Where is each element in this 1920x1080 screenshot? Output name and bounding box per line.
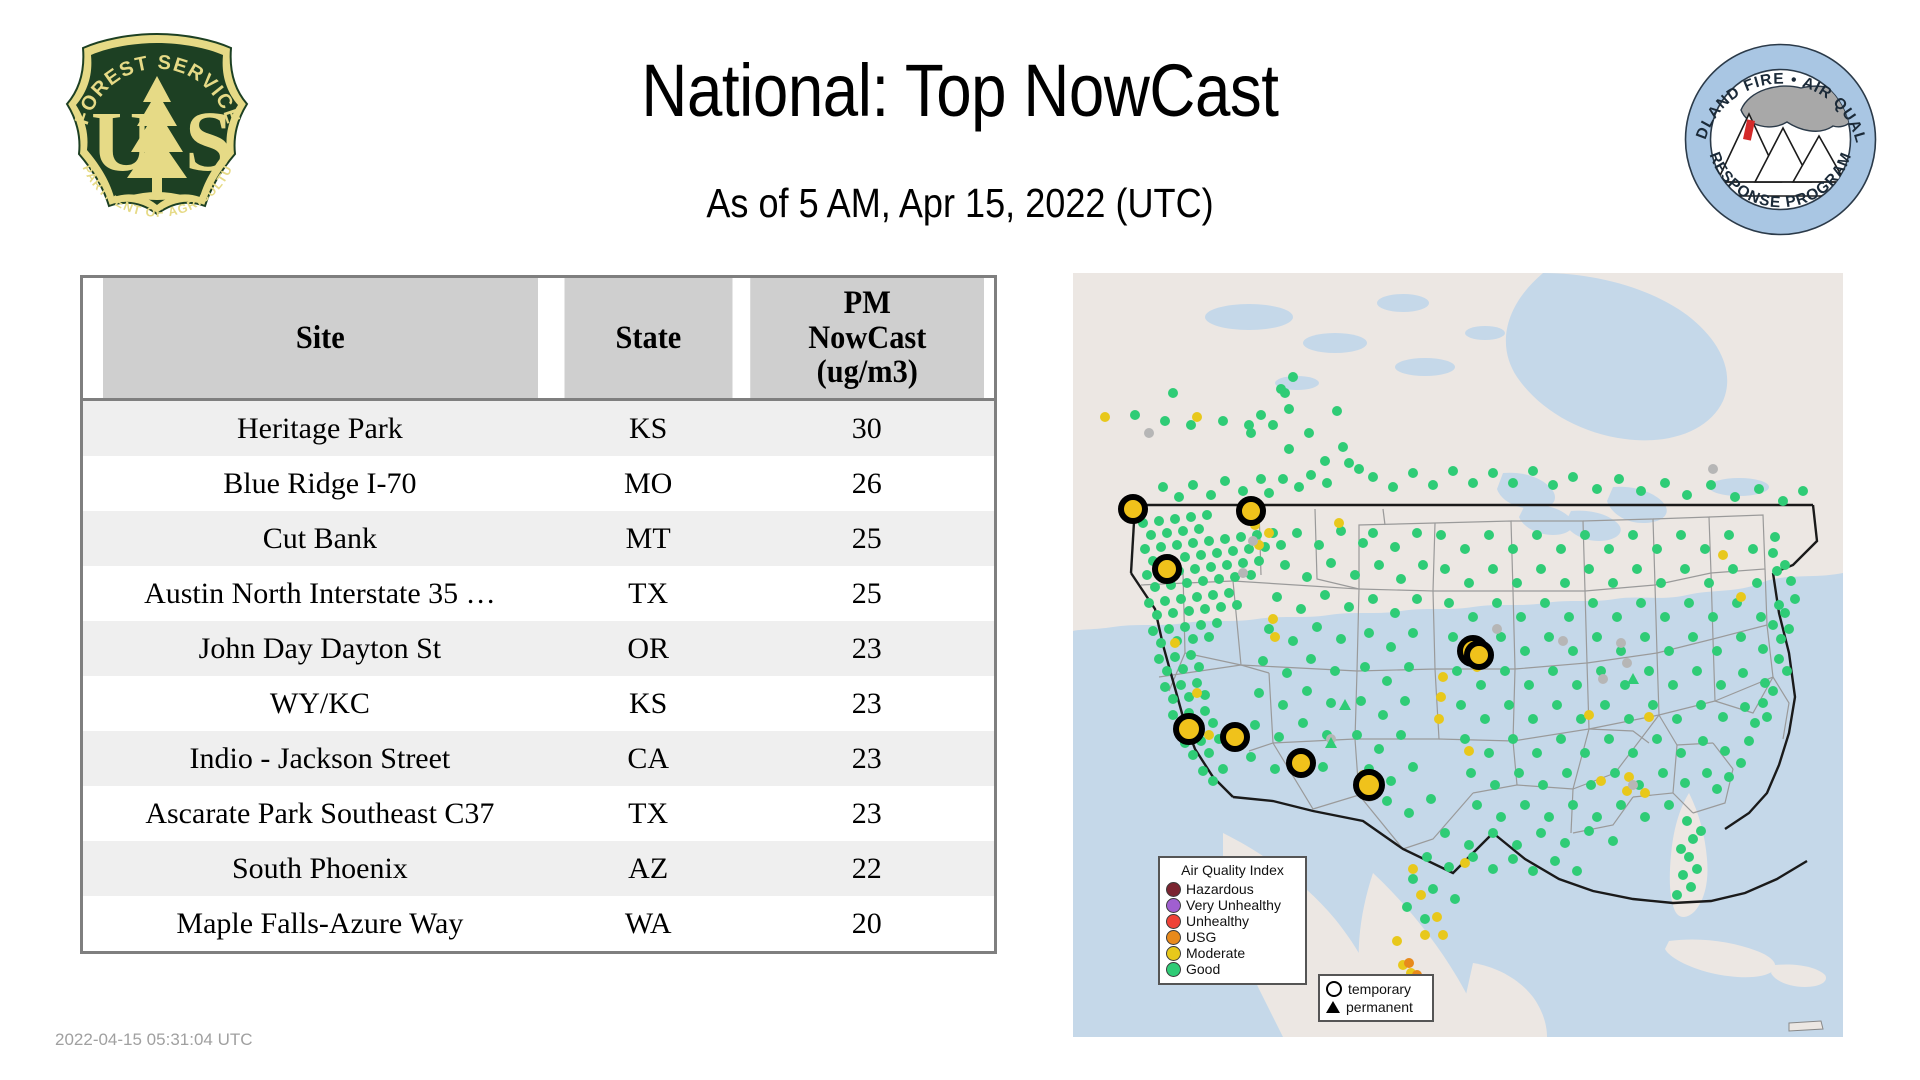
top-site-marker	[1223, 725, 1247, 749]
legend-item-usg: USG	[1166, 929, 1299, 945]
cell-state: OR	[557, 621, 740, 676]
column-header-pm-line3: (ug/m3)	[753, 355, 980, 390]
top-site-marker	[1356, 772, 1382, 798]
legend-label-permanent: permanent	[1346, 1000, 1413, 1015]
cell-site: South Phoenix	[82, 841, 557, 896]
cell-state: KS	[557, 676, 740, 731]
cell-pm: 25	[740, 511, 996, 566]
moderate-swatch-icon	[1166, 946, 1181, 961]
column-header-state-label: State	[568, 321, 729, 356]
legend-item-hazardous: Hazardous	[1166, 881, 1299, 897]
triangle-icon	[1326, 1001, 1340, 1013]
very-unhealthy-swatch-icon	[1166, 898, 1181, 913]
cell-site: John Day Dayton St	[82, 621, 557, 676]
cell-state: KS	[557, 400, 740, 457]
legend-label-unhealthy: Unhealthy	[1186, 914, 1249, 929]
cell-pm: 23	[740, 786, 996, 841]
cell-state: CA	[557, 731, 740, 786]
column-header-pm-line2: NowCast	[753, 321, 980, 356]
cell-state: WA	[557, 896, 740, 953]
cell-site: Austin North Interstate 35 …	[82, 566, 557, 621]
aqi-legend-title: Air Quality Index	[1166, 862, 1299, 878]
top-site-marker	[1121, 497, 1145, 521]
cell-site: Maple Falls-Azure Way	[82, 896, 557, 953]
legend-label-moderate: Moderate	[1186, 946, 1245, 961]
table-row[interactable]: WY/KC KS 23	[82, 676, 996, 731]
legend-item-unhealthy: Unhealthy	[1166, 913, 1299, 929]
legend-label-very-unhealthy: Very Unhealthy	[1186, 898, 1281, 913]
top-site-marker	[1155, 557, 1179, 581]
cell-pm: 23	[740, 731, 996, 786]
legend-label-hazardous: Hazardous	[1186, 882, 1254, 897]
table-row[interactable]: Cut Bank MT 25	[82, 511, 996, 566]
cell-site: Cut Bank	[82, 511, 557, 566]
cell-site: Blue Ridge I-70	[82, 456, 557, 511]
page-subtitle: As of 5 AM, Apr 15, 2022 (UTC)	[115, 180, 1805, 227]
cell-state: TX	[557, 786, 740, 841]
table-row[interactable]: Maple Falls-Azure Way WA 20	[82, 896, 996, 953]
wfaqrp-circular-logo: WILDLAND FIRE • AIR QUALITY RESPONSE PRO…	[1683, 42, 1878, 237]
cell-pm: 20	[740, 896, 996, 953]
circle-icon	[1326, 981, 1342, 997]
top-nowcast-table: Site State PM NowCast (ug/m3) Heritage P…	[80, 275, 997, 954]
cell-state: TX	[557, 566, 740, 621]
legend-item-permanent: permanent	[1326, 998, 1426, 1016]
table-row[interactable]: Heritage Park KS 30	[82, 400, 996, 457]
top-site-marker	[1239, 499, 1263, 523]
column-header-state[interactable]: State	[564, 277, 732, 400]
legend-item-moderate: Moderate	[1166, 945, 1299, 961]
column-header-site[interactable]: Site	[101, 277, 538, 400]
legend-item-very-unhealthy: Very Unhealthy	[1166, 897, 1299, 913]
legend-item-good: Good	[1166, 961, 1299, 977]
table-row[interactable]: Austin North Interstate 35 … TX 25	[82, 566, 996, 621]
page-title: National: Top NowCast	[134, 48, 1785, 133]
top-site-marker	[1289, 751, 1313, 775]
column-header-pm-nowcast[interactable]: PM NowCast (ug/m3)	[750, 277, 985, 400]
cell-pm: 23	[740, 676, 996, 731]
cell-pm: 30	[740, 400, 996, 457]
table-row[interactable]: Blue Ridge I-70 MO 26	[82, 456, 996, 511]
legend-label-good: Good	[1186, 962, 1220, 977]
column-header-site-label: Site	[106, 321, 535, 356]
cell-state: MT	[557, 511, 740, 566]
cell-pm: 25	[740, 566, 996, 621]
site-type-legend: temporary permanent	[1318, 974, 1434, 1022]
air-quality-map[interactable]: Air Quality Index Hazardous Very Unhealt…	[1073, 273, 1843, 1037]
aqi-legend: Air Quality Index Hazardous Very Unhealt…	[1158, 856, 1307, 985]
cell-site: WY/KC	[82, 676, 557, 731]
unhealthy-swatch-icon	[1166, 914, 1181, 929]
cell-state: MO	[557, 456, 740, 511]
hazardous-swatch-icon	[1166, 882, 1181, 897]
cell-site: Indio - Jackson Street	[82, 731, 557, 786]
table-header-row: Site State PM NowCast (ug/m3)	[82, 277, 996, 400]
cell-state: AZ	[557, 841, 740, 896]
table-row[interactable]: Indio - Jackson Street CA 23	[82, 731, 996, 786]
legend-item-temporary: temporary	[1326, 980, 1426, 998]
cell-site: Heritage Park	[82, 400, 557, 457]
top-site-marker	[1176, 716, 1202, 742]
table-row[interactable]: Ascarate Park Southeast C37 TX 23	[82, 786, 996, 841]
cell-site: Ascarate Park Southeast C37	[82, 786, 557, 841]
top-site-marker	[1467, 643, 1491, 667]
table-row[interactable]: South Phoenix AZ 22	[82, 841, 996, 896]
cell-pm: 23	[740, 621, 996, 676]
good-swatch-icon	[1166, 962, 1181, 977]
cell-pm: 22	[740, 841, 996, 896]
column-header-pm-line1: PM	[753, 286, 980, 321]
legend-label-temporary: temporary	[1348, 982, 1411, 997]
usg-swatch-icon	[1166, 930, 1181, 945]
cell-pm: 26	[740, 456, 996, 511]
generated-timestamp: 2022-04-15 05:31:04 UTC	[55, 1030, 253, 1050]
table-row[interactable]: John Day Dayton St OR 23	[82, 621, 996, 676]
legend-label-usg: USG	[1186, 930, 1216, 945]
